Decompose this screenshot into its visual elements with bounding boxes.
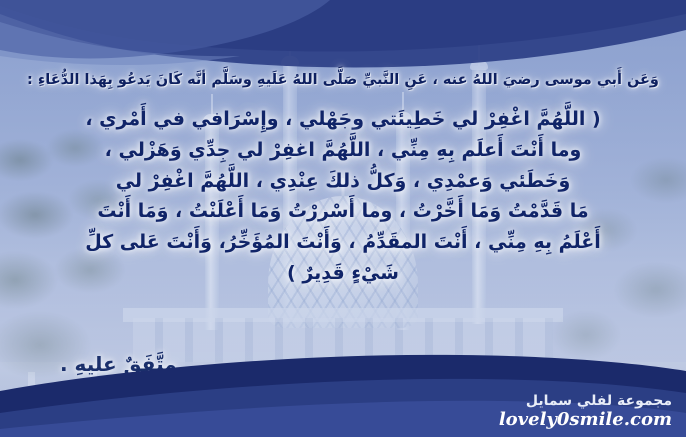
dua-line: مَا قَدَّمْتُ وَمَا أَخَّرْتُ ، وما أَسْ… xyxy=(34,196,652,227)
brand-website-url[interactable]: lovely0smile.com xyxy=(499,410,672,431)
branding-block: مجموعة لفلي سمايل lovely0smile.com xyxy=(499,393,672,431)
dua-line: ( اللَّهُمَّ اغْفِرْ لي خَطِيئَتي وجَهْل… xyxy=(34,104,652,135)
brand-arabic-name: مجموعة لفلي سمايل xyxy=(499,393,672,410)
dua-text-block: ( اللَّهُمَّ اغْفِرْ لي خَطِيئَتي وجَهْل… xyxy=(34,104,652,289)
dua-line: وَخَطَئي وَعمْدِي ، وَكلُّ ذلكَ عِنْدِي … xyxy=(34,166,652,197)
dua-line: أَعْلَمُ بِهِ مِنِّي ، أَنْتَ المقَدِّمُ… xyxy=(34,227,652,258)
hadith-intro-text: وَعَن أَبي موسى رضيَ اللهُ عنه ، عَنِ ال… xyxy=(0,72,686,88)
islamic-dua-card: وَعَن أَبي موسى رضيَ اللهُ عنه ، عَنِ ال… xyxy=(0,0,686,437)
dua-line: وما أَنْتَ أَعلَم بِهِ مِنِّي ، اللَّهُم… xyxy=(34,135,652,166)
dua-line: شَيْءٍ قَدِيرٌ ) xyxy=(34,258,652,289)
hadith-attribution: متَّفَقٌ عليهِ . xyxy=(60,352,177,376)
